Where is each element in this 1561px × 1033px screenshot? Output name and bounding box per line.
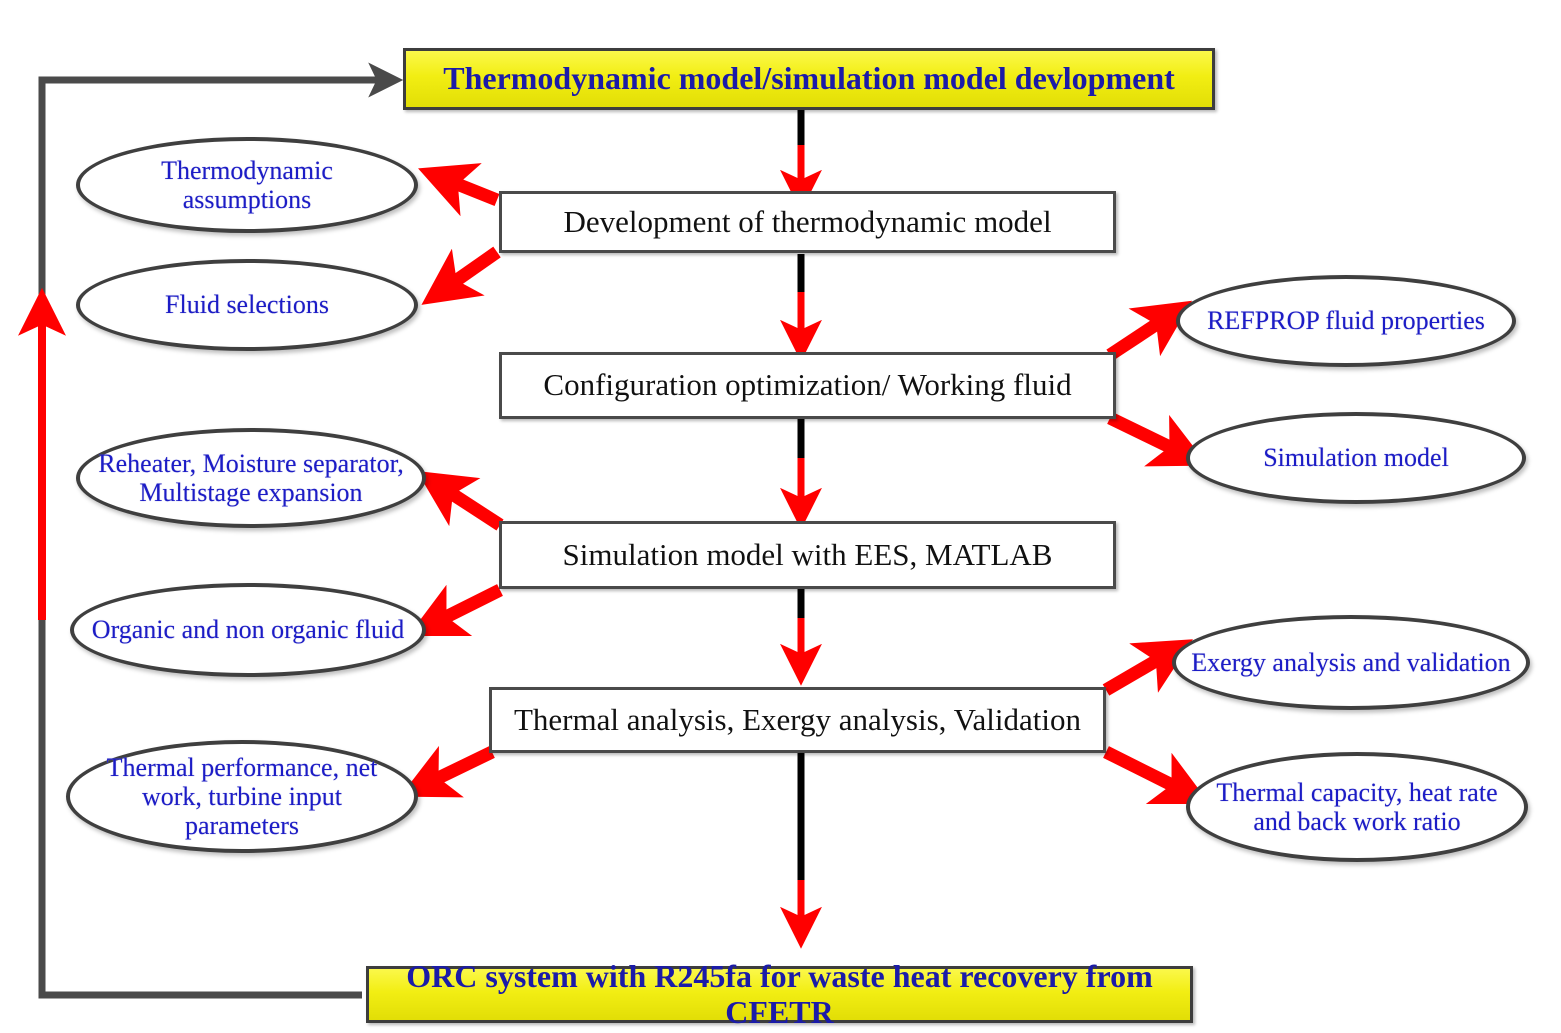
line-2: and back work ratio: [1253, 807, 1460, 836]
line-1: Thermal performance, net: [107, 753, 378, 782]
line-2: work, turbine input parameters: [142, 782, 342, 840]
ellipse-refprop-fluid-properties-label: REFPROP fluid properties: [1193, 306, 1499, 335]
ellipse-organic-non-organic-fluid-label: Organic and non organic fluid: [78, 615, 418, 644]
ellipse-thermodynamic-assumptions-label: Thermodynamic assumptions: [80, 156, 414, 214]
ellipse-reheater-moisture-separator[interactable]: Reheater, Moisture separator, Multistage…: [76, 428, 426, 528]
ellipse-simulation-model-label: Simulation model: [1249, 443, 1463, 472]
ellipse-refprop-fluid-properties[interactable]: REFPROP fluid properties: [1176, 275, 1516, 367]
ellipse-exergy-analysis-validation-label: Exergy analysis and validation: [1177, 648, 1524, 677]
node-step1-label: Development of thermodynamic model: [553, 205, 1061, 240]
node-step4-label: Thermal analysis, Exergy analysis, Valid…: [504, 703, 1091, 738]
arrow-to-refprop-fluid-properties: [1110, 318, 1166, 355]
ellipse-thermal-capacity-heat-rate[interactable]: Thermal capacity, heat rate and back wor…: [1186, 752, 1528, 862]
ellipse-simulation-model[interactable]: Simulation model: [1186, 412, 1526, 504]
arrow-to-simulation-model: [1110, 418, 1180, 452]
arrow-to-fluid-selections: [447, 252, 497, 287]
arrow-to-exergy-analysis-validation: [1106, 655, 1166, 690]
ellipse-thermal-performance-net-work[interactable]: Thermal performance, net work, turbine i…: [66, 740, 418, 853]
node-simulation-model-ees-matlab[interactable]: Simulation model with EES, MATLAB: [499, 521, 1116, 589]
ellipse-exergy-analysis-validation[interactable]: Exergy analysis and validation: [1172, 615, 1530, 710]
line-1: Thermal capacity, heat rate: [1216, 778, 1497, 807]
node-start-label: Thermodynamic model/simulation model dev…: [433, 61, 1185, 97]
line-1: Reheater, Moisture separator,: [98, 449, 403, 478]
node-step3-label: Simulation model with EES, MATLAB: [553, 538, 1063, 573]
arrow-to-thermodynamic-assumptions: [447, 180, 497, 200]
line-2: Multistage expansion: [139, 478, 362, 507]
node-thermal-exergy-validation[interactable]: Thermal analysis, Exergy analysis, Valid…: [489, 687, 1106, 753]
ellipse-thermal-performance-net-work-label: Thermal performance, net work, turbine i…: [70, 753, 414, 840]
ellipse-fluid-selections-label: Fluid selections: [151, 290, 343, 319]
arrow-to-thermal-performance-net-work: [428, 752, 492, 783]
node-step2-label: Configuration optimization/ Working flui…: [533, 368, 1081, 403]
arrow-to-organic-non-organic-fluid: [436, 590, 500, 622]
ellipse-reheater-moisture-separator-label: Reheater, Moisture separator, Multistage…: [84, 449, 417, 507]
ellipse-thermal-capacity-heat-rate-label: Thermal capacity, heat rate and back wor…: [1202, 778, 1511, 836]
arrow-to-thermal-capacity-heat-rate: [1106, 752, 1182, 790]
arrow-to-reheater-moisture-separator: [443, 488, 500, 525]
node-start[interactable]: Thermodynamic model/simulation model dev…: [403, 48, 1215, 110]
node-end-label: ORC system with R245fa for waste heat re…: [369, 959, 1190, 1031]
ellipse-organic-non-organic-fluid[interactable]: Organic and non organic fluid: [70, 583, 426, 677]
node-development-of-thermodynamic-model[interactable]: Development of thermodynamic model: [499, 191, 1116, 253]
ellipse-thermodynamic-assumptions[interactable]: Thermodynamic assumptions: [76, 137, 418, 233]
node-end[interactable]: ORC system with R245fa for waste heat re…: [366, 966, 1193, 1023]
flowchart-canvas: Thermodynamic model/simulation model dev…: [0, 0, 1561, 1033]
ellipse-fluid-selections[interactable]: Fluid selections: [76, 259, 418, 351]
node-configuration-optimization[interactable]: Configuration optimization/ Working flui…: [499, 352, 1116, 419]
